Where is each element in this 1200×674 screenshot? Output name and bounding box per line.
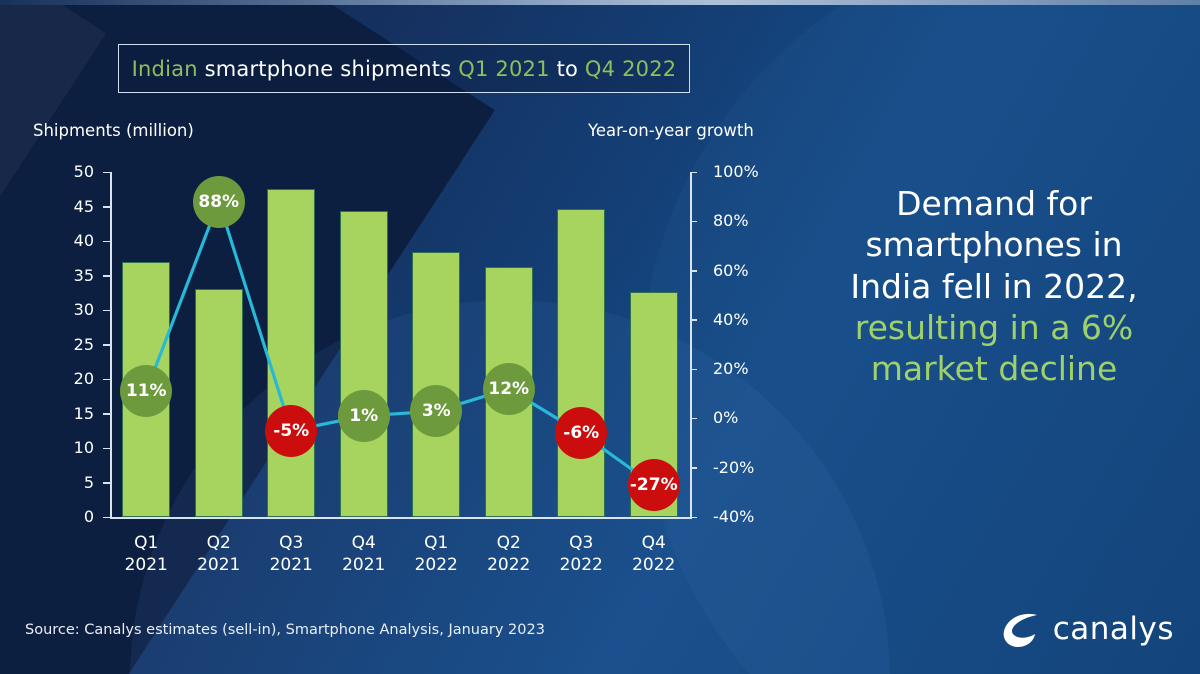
headline-line-3: India fell in 2022, [818,266,1170,307]
growth-marker-q1-2022[interactable]: 3% [410,385,462,437]
x-axis-label-line: Q4 [609,533,699,555]
growth-marker-q4-2021[interactable]: 1% [338,390,390,442]
growth-marker-q2-2021[interactable]: 88% [193,176,245,228]
x-axis-label-q4-2022: Q42022 [609,533,699,577]
source-note: Source: Canalys estimates (sell-in), Sma… [25,622,545,638]
canalys-leaf-icon [997,606,1043,652]
headline-line-4: resulting in a 6% [818,307,1170,348]
canalys-wordmark: canalys [1053,611,1174,647]
canalys-logo: canalys [997,606,1174,652]
headline-line-2: smartphones in [818,224,1170,265]
headline-text: Demand for smartphones in India fell in … [818,183,1170,389]
chart-slide: Indian smartphone shipments Q1 2021 to Q… [0,0,1200,674]
growth-marker-q2-2022[interactable]: 12% [483,363,535,415]
growth-marker-q4-2022[interactable]: -27% [628,459,680,511]
x-axis-label-line: 2022 [609,555,699,577]
headline-line-5: market decline [818,348,1170,389]
headline-line-1: Demand for [818,183,1170,224]
growth-marker-q3-2021[interactable]: -5% [265,405,317,457]
